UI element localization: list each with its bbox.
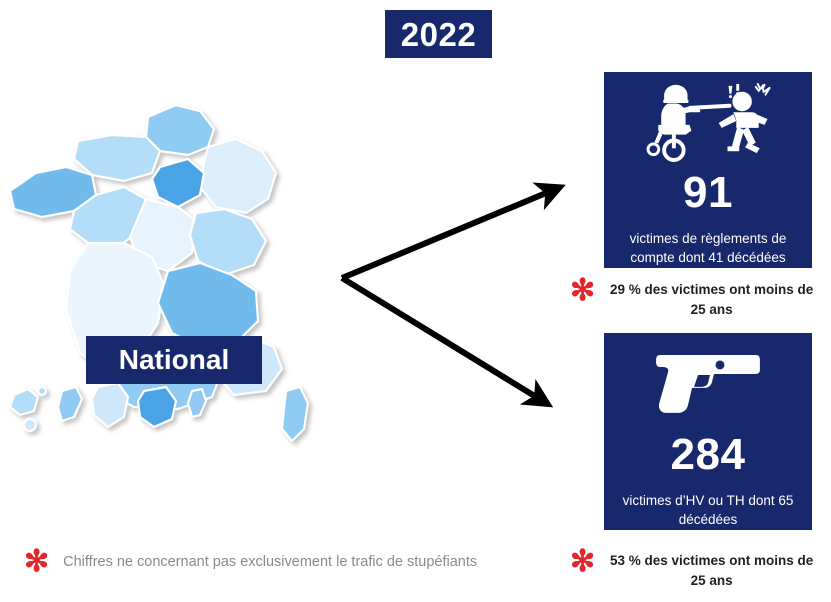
asterisk-icon: ✻	[570, 280, 595, 302]
region-corse	[282, 387, 308, 441]
note-homicides-age-text: 53 % des victimes ont moins de 25 ans	[609, 551, 814, 590]
national-badge: National	[86, 336, 262, 384]
region-grand-est	[200, 139, 276, 213]
france-regions-choropleth-icon	[0, 95, 345, 470]
arrow-to-box-2	[342, 278, 546, 403]
stat-box-homicides: 284 victimes d’HV ou TH dont 65 décédées	[604, 333, 812, 530]
region-guadeloupe-islet-2	[24, 419, 36, 431]
stat-number-shootings: 91	[683, 171, 733, 215]
handgun-icon	[652, 349, 764, 415]
region-guadeloupe	[10, 389, 38, 415]
asterisk-icon: ✻	[570, 551, 595, 573]
region-guyane	[92, 383, 128, 427]
footnote: ✻ Chiffres ne concernant pas exclusiveme…	[24, 551, 477, 573]
region-martinique	[58, 387, 82, 421]
note-shootings-age: ✻ 29 % des victimes ont moins de 25 ans	[570, 280, 825, 319]
year-badge: 2022	[385, 10, 492, 58]
asterisk-icon: ✻	[24, 551, 49, 573]
region-guadeloupe-islet	[38, 387, 46, 395]
infographic-canvas: 2022	[0, 0, 831, 602]
stat-caption-shootings: victimes de règlements de compte dont 41…	[604, 229, 812, 268]
stat-number-homicides: 284	[671, 433, 746, 477]
stat-box-shootings: 91 victimes de règlements de compte dont…	[604, 72, 812, 268]
region-la-reunion	[138, 387, 176, 427]
region-auvergne-rhone-alpes	[158, 263, 258, 347]
drive-by-shooting-icon	[633, 82, 783, 165]
region-mayotte	[188, 389, 206, 417]
year-label: 2022	[401, 18, 476, 51]
footnote-text: Chiffres ne concernant pas exclusivement…	[63, 553, 477, 572]
national-label: National	[119, 346, 229, 374]
note-homicides-age: ✻ 53 % des victimes ont moins de 25 ans	[570, 551, 825, 590]
region-ile-de-france	[152, 159, 204, 207]
france-map: National	[0, 95, 345, 470]
stat-caption-homicides: victimes d’HV ou TH dont 65 décédées	[604, 491, 812, 530]
arrow-to-box-1	[342, 188, 558, 278]
note-shootings-age-text: 29 % des victimes ont moins de 25 ans	[609, 280, 814, 319]
branching-arrows-icon	[330, 160, 610, 415]
